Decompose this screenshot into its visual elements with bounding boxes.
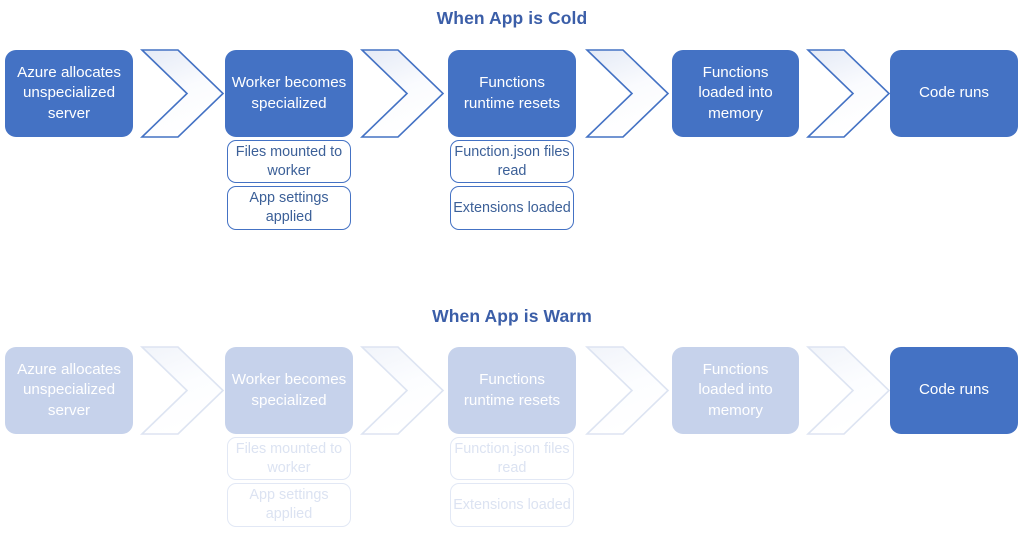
stage-box-worker-becomes-specialized-warm[interactable]: Worker becomes specialized [225, 347, 353, 434]
sub-box-files-mounted-warm[interactable]: Files mounted to worker [227, 437, 351, 480]
sub-box-app-settings-warm[interactable]: App settings applied [227, 483, 351, 527]
chevron-arrow-icon [585, 345, 670, 436]
stage-label: Azure allocates unspecialized server [11, 360, 127, 421]
sub-box-label: App settings applied [228, 486, 350, 523]
chevron-arrow-icon [360, 345, 445, 436]
stage-box-code-runs-warm[interactable]: Code runs [890, 347, 1018, 434]
stage-box-azure-allocates-warm[interactable]: Azure allocates unspecialized server [5, 347, 133, 434]
chevron-arrow-icon [806, 345, 891, 436]
sub-box-label: Files mounted to worker [228, 440, 350, 477]
page-title-warm: When App is Warm [0, 306, 1024, 327]
section-when-app-is-warm: When App is Warm Azure allocates unspeci… [0, 0, 1024, 535]
chevron-arrow-icon [140, 345, 225, 436]
stage-label: Functions runtime resets [454, 370, 570, 411]
sub-box-label: Extensions loaded [453, 496, 571, 515]
sub-box-extensions-loaded-warm[interactable]: Extensions loaded [450, 483, 574, 527]
stage-label: Code runs [896, 380, 1012, 400]
stage-label: Functions loaded into memory [678, 360, 793, 421]
stage-box-functions-runtime-resets-warm[interactable]: Functions runtime resets [448, 347, 576, 434]
sub-box-label: Function.json files read [451, 440, 573, 477]
stage-label: Worker becomes specialized [231, 370, 347, 411]
stage-box-functions-loaded-into-memory-warm[interactable]: Functions loaded into memory [672, 347, 799, 434]
sub-box-function-json-warm[interactable]: Function.json files read [450, 437, 574, 480]
